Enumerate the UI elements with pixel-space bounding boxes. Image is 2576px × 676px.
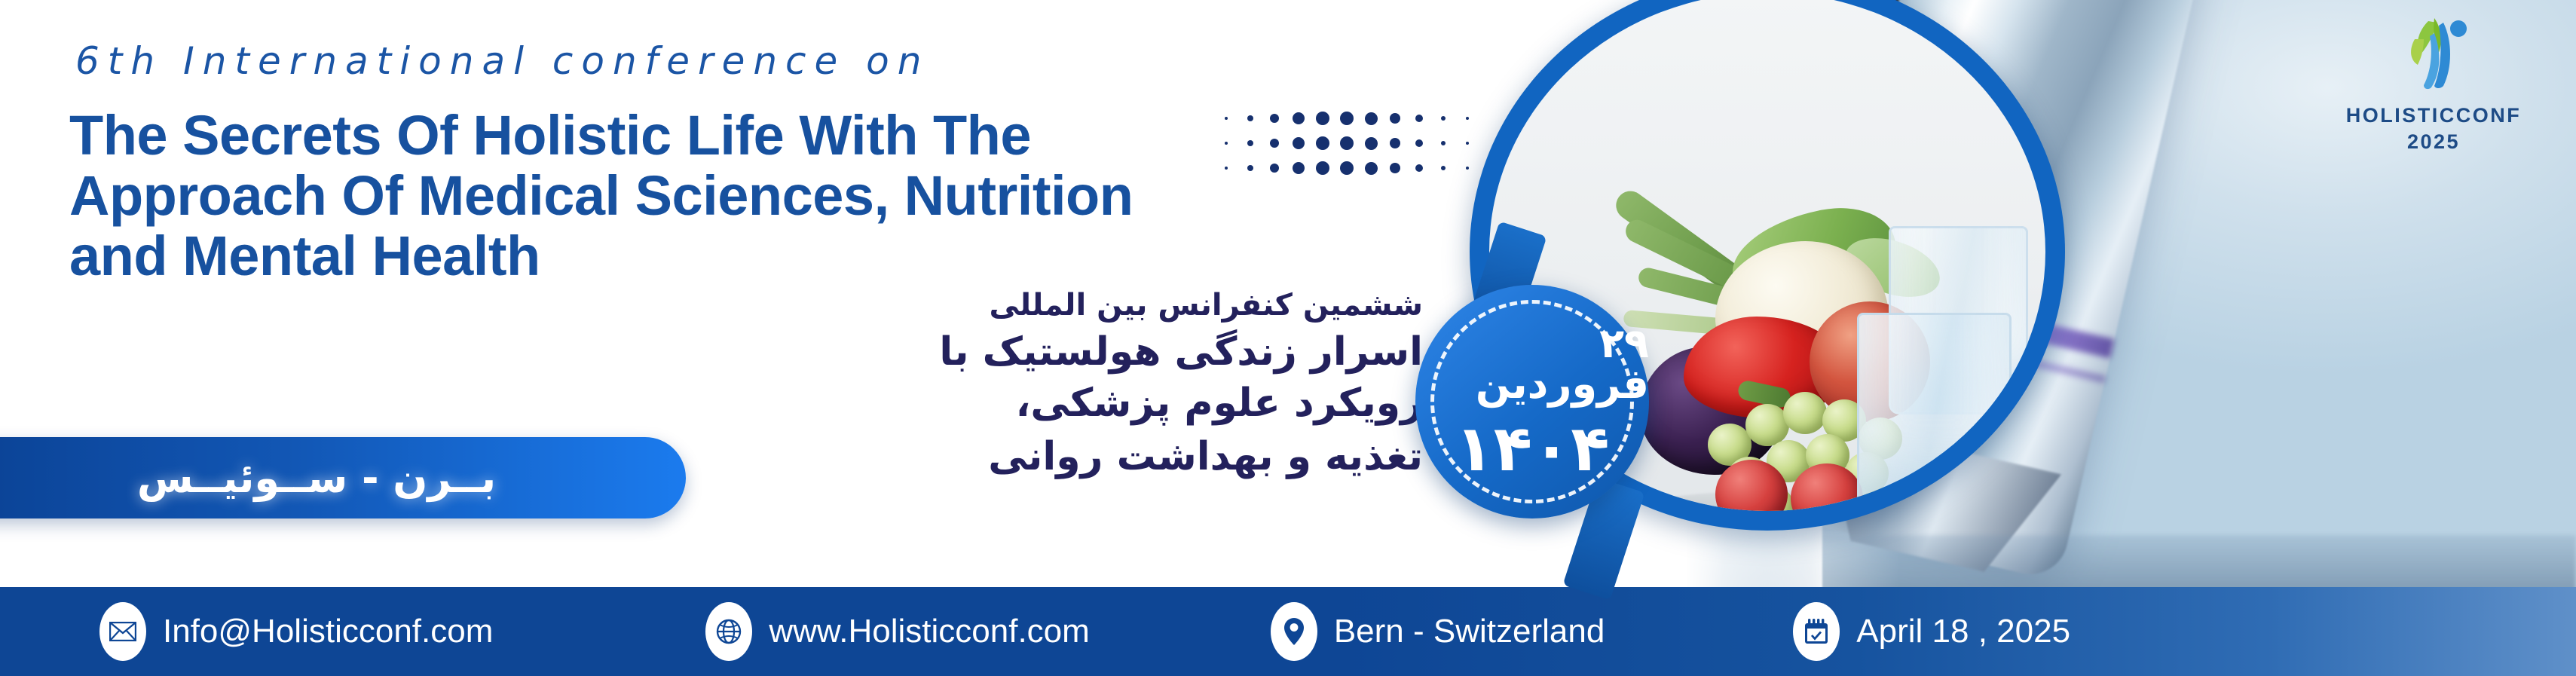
footer-email-item[interactable]: Info@Holisticconf.com: [99, 602, 493, 661]
grid-dot: [1225, 142, 1228, 145]
grid-dot: [1293, 162, 1305, 174]
grid-dot: [1270, 164, 1279, 173]
grid-dot: [1390, 163, 1400, 173]
contact-footer-bar: Info@Holisticconf.com www.Holisticconf.c…: [0, 587, 2576, 676]
leaf-person-icon: [2339, 11, 2528, 99]
conference-banner: 40×/0.65Plan Achromat: [0, 0, 2576, 676]
title-line-3: and Mental Health: [69, 226, 1147, 286]
grid-dot: [1415, 115, 1423, 122]
grid-dot: [1390, 113, 1400, 124]
envelope-icon: [99, 602, 146, 661]
location-pill-label: بــرن - ســوئیــس: [137, 454, 526, 502]
grid-dot: [1365, 162, 1378, 175]
location-pill: بــرن - ســوئیــس: [0, 437, 686, 518]
grid-dot: [1390, 138, 1400, 148]
water-glass-shape: [1857, 313, 2012, 511]
grid-dot: [1466, 142, 1469, 145]
grid-dot: [1340, 161, 1354, 175]
logo-name-text: HOLISTICCONF: [2339, 104, 2528, 127]
footer-location-label: Bern - Switzerland: [1334, 613, 1605, 650]
persian-date-badge: ۲۹ فروردین ۱۴۰۴: [1415, 285, 1649, 518]
globe-icon: [705, 602, 752, 661]
logo-year-text: 2025: [2339, 130, 2528, 154]
grid-dot: [1270, 139, 1279, 148]
farsi-line-1: ششمین کنفرانس بین المللی: [865, 286, 1423, 324]
grid-dot: [1415, 139, 1423, 147]
grid-dot: [1225, 117, 1228, 120]
page-title: The Secrets Of Holistic Life With The Ap…: [69, 106, 1147, 286]
holisticconf-logo: HOLISTICCONF 2025: [2339, 11, 2528, 154]
grid-dot: [1293, 112, 1305, 124]
farsi-line-3: تغذیه و بهداشت روانی: [865, 432, 1423, 483]
grid-dot: [1293, 137, 1305, 149]
grid-dot: [1316, 112, 1329, 125]
title-line-1: The Secrets Of Holistic Life With The: [69, 106, 1147, 166]
grid-dot: [1365, 112, 1378, 125]
grid-dot: [1415, 164, 1423, 172]
map-pin-icon: [1271, 602, 1317, 661]
footer-email-label: Info@Holisticconf.com: [163, 613, 493, 650]
grid-dot: [1466, 167, 1469, 170]
grid-dot: [1365, 137, 1378, 150]
title-line-2: Approach Of Medical Sciences, Nutrition: [69, 166, 1147, 226]
footer-date-item[interactable]: April 18 , 2025: [1793, 602, 2070, 661]
grid-dot: [1466, 117, 1469, 120]
footer-date-label: April 18 , 2025: [1856, 613, 2070, 650]
grape-shape: [1783, 392, 1827, 434]
farsi-line-2: اسرار زندگی هولستیک با رویکرد علوم پزشکی…: [865, 327, 1423, 429]
dot-grid-decoration: [1219, 112, 1483, 187]
grid-dot: [1225, 167, 1228, 170]
grid-dot: [1441, 141, 1446, 145]
grid-dot: [1441, 116, 1446, 121]
grid-dot: [1316, 161, 1329, 175]
grid-dot: [1247, 140, 1253, 146]
grid-dot: [1316, 136, 1329, 150]
grid-dot: [1441, 166, 1446, 170]
grid-dot: [1270, 114, 1279, 123]
badge-day-label: ۲۹ فروردین: [1415, 323, 1649, 405]
conference-kicker: 6th International conference on: [75, 39, 929, 83]
grid-dot: [1247, 165, 1253, 171]
calendar-icon: [1793, 602, 1840, 661]
grid-dot: [1340, 112, 1354, 125]
grid-dot: [1340, 136, 1354, 150]
grid-dot: [1247, 115, 1253, 121]
badge-year-label: ۱۴۰۴: [1455, 417, 1609, 480]
footer-website-label: www.Holisticconf.com: [769, 613, 1089, 650]
farsi-title-block: ششمین کنفرانس بین المللی اسرار زندگی هول…: [865, 286, 1423, 483]
footer-location-item[interactable]: Bern - Switzerland: [1271, 602, 1605, 661]
footer-website-item[interactable]: www.Holisticconf.com: [705, 602, 1089, 661]
